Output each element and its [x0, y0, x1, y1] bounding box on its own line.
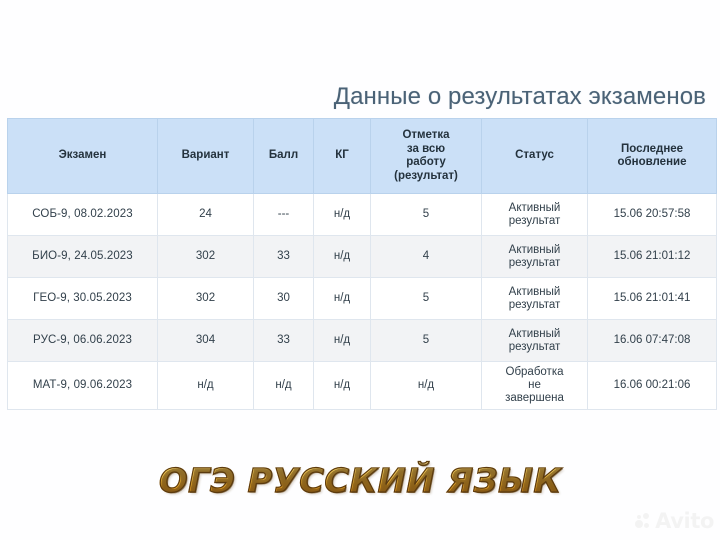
- cell-variant: 24: [158, 194, 254, 236]
- cell-updated: 15.06 21:01:12: [588, 236, 717, 278]
- avito-logo-icon: [635, 513, 652, 530]
- status-line1: Активный: [485, 286, 584, 299]
- cell-mark: 5: [371, 194, 482, 236]
- column-header-score: Балл: [254, 119, 314, 194]
- cell-kg: н/д: [314, 194, 371, 236]
- cell-score: 33: [254, 236, 314, 278]
- cell-updated: 16.06 00:21:06: [588, 362, 717, 410]
- exam-results-table-container: Экзамен Вариант Балл КГ Отметка за всю р…: [7, 118, 716, 410]
- cell-score: 33: [254, 320, 314, 362]
- cell-score: ---: [254, 194, 314, 236]
- column-header-exam: Экзамен: [8, 119, 158, 194]
- column-header-variant: Вариант: [158, 119, 254, 194]
- cell-variant: 302: [158, 278, 254, 320]
- cell-variant: н/д: [158, 362, 254, 410]
- table-header-row: Экзамен Вариант Балл КГ Отметка за всю р…: [8, 119, 717, 194]
- column-header-mark-line3: работу: [374, 156, 478, 170]
- cell-exam: РУС-9, 06.06.2023: [8, 320, 158, 362]
- promo-banner: ОГЭ РУССКИЙ ЯЗЫК: [0, 458, 720, 504]
- cell-updated: 15.06 21:01:41: [588, 278, 717, 320]
- cell-status: Обработка не завершена: [482, 362, 588, 410]
- cell-mark: 5: [371, 320, 482, 362]
- cell-updated: 16.06 07:47:08: [588, 320, 717, 362]
- cell-status: Активный результат: [482, 194, 588, 236]
- status-line1: Активный: [485, 202, 584, 215]
- cell-kg: н/д: [314, 320, 371, 362]
- cell-exam: МАТ-9, 09.06.2023: [8, 362, 158, 410]
- cell-status: Активный результат: [482, 278, 588, 320]
- avito-watermark-text: Avito: [655, 511, 714, 532]
- cell-variant: 302: [158, 236, 254, 278]
- cell-updated: 15.06 20:57:58: [588, 194, 717, 236]
- status-line1: Обработка: [485, 366, 584, 379]
- table-row: ГЕО-9, 30.05.2023 302 30 н/д 5 Активный …: [8, 278, 717, 320]
- status-line2: не: [485, 379, 584, 392]
- cell-status: Активный результат: [482, 236, 588, 278]
- cell-status: Активный результат: [482, 320, 588, 362]
- cell-kg: н/д: [314, 278, 371, 320]
- cell-mark: 5: [371, 278, 482, 320]
- cell-exam: СОБ-9, 08.02.2023: [8, 194, 158, 236]
- cell-mark: 4: [371, 236, 482, 278]
- column-header-mark-line4: (результат): [374, 170, 478, 184]
- column-header-status: Статус: [482, 119, 588, 194]
- column-header-kg: КГ: [314, 119, 371, 194]
- column-header-mark-line1: Отметка: [374, 129, 478, 143]
- avito-watermark: Avito: [635, 511, 714, 532]
- column-header-mark-line2: за всю: [374, 143, 478, 157]
- exam-results-table: Экзамен Вариант Балл КГ Отметка за всю р…: [7, 118, 717, 410]
- page-root: Данные о результатах экзаменов Экзамен В…: [0, 0, 720, 540]
- table-row: БИО-9, 24.05.2023 302 33 н/д 4 Активный …: [8, 236, 717, 278]
- promo-banner-text: ОГЭ РУССКИЙ ЯЗЫК: [159, 458, 561, 504]
- cell-variant: 304: [158, 320, 254, 362]
- column-header-mark: Отметка за всю работу (результат): [371, 119, 482, 194]
- cell-kg: н/д: [314, 236, 371, 278]
- cell-exam: ГЕО-9, 30.05.2023: [8, 278, 158, 320]
- status-line2: результат: [485, 341, 584, 354]
- column-header-updated-line1: Последнее: [591, 143, 713, 157]
- cell-mark: н/д: [371, 362, 482, 410]
- status-line1: Активный: [485, 244, 584, 257]
- status-line1: Активный: [485, 328, 584, 341]
- status-line2: результат: [485, 299, 584, 312]
- table-row: СОБ-9, 08.02.2023 24 --- н/д 5 Активный …: [8, 194, 717, 236]
- status-line2: результат: [485, 215, 584, 228]
- cell-score: 30: [254, 278, 314, 320]
- cell-exam: БИО-9, 24.05.2023: [8, 236, 158, 278]
- status-line2: результат: [485, 257, 584, 270]
- column-header-updated-line2: обновление: [591, 156, 713, 170]
- table-row: МАТ-9, 09.06.2023 н/д н/д н/д н/д Обрабо…: [8, 362, 717, 410]
- column-header-updated: Последнее обновление: [588, 119, 717, 194]
- cell-kg: н/д: [314, 362, 371, 410]
- cell-score: н/д: [254, 362, 314, 410]
- table-row: РУС-9, 06.06.2023 304 33 н/д 5 Активный …: [8, 320, 717, 362]
- page-title: Данные о результатах экзаменов: [0, 82, 714, 112]
- status-line3: завершена: [485, 392, 584, 405]
